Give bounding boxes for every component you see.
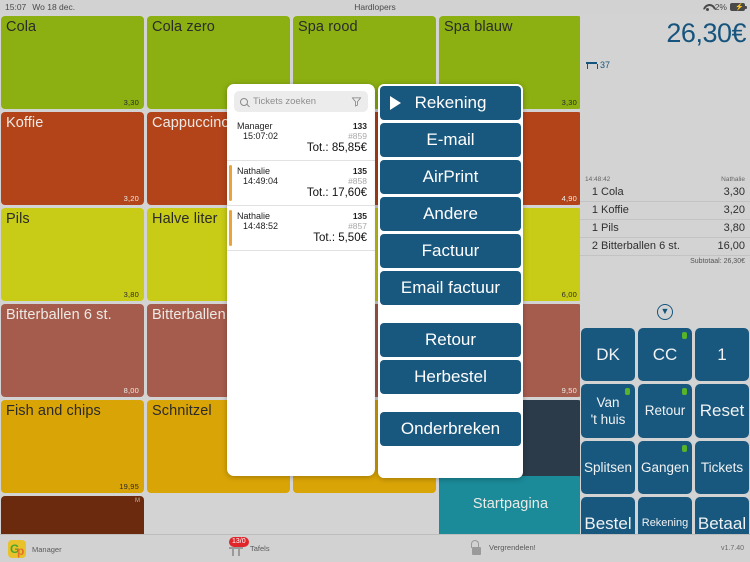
search-input[interactable]: Tickets zoeken [253, 96, 346, 107]
keypad-button[interactable]: Van 't huis [581, 384, 635, 437]
gp-logo-icon: Gp [8, 540, 26, 558]
action-menu-label: Rekening [415, 93, 487, 113]
status-bar: 15:07 Wo 18 dec. Hardlopers 2% ⚡ [0, 0, 750, 14]
order-line-name: Cola [601, 186, 724, 198]
action-menu-label: Herbestel [414, 367, 487, 387]
ticket-id: #857 [348, 221, 367, 231]
chevron-down-circle-icon[interactable]: ▼ [657, 304, 673, 320]
product-tile-price: 6,00 [562, 290, 577, 299]
order-line-qty: 1 [585, 186, 598, 198]
tile-corner-marker: M [135, 498, 140, 504]
product-tile-name: Spa blauw [444, 19, 577, 35]
tables-badge: 13/0 [229, 537, 249, 547]
product-tile-price: 3,30 [562, 98, 577, 107]
table-icon [586, 62, 597, 69]
ticket-id: #859 [348, 131, 367, 141]
ticket-user: Nathalie [237, 166, 270, 176]
version-label: v1.7.40 [721, 545, 744, 552]
keypad-button-label: Bestel [584, 515, 631, 532]
action-menu-button[interactable]: Herbestel [380, 360, 521, 394]
product-tile-price: 4,90 [562, 194, 577, 203]
product-tile-price: 19,95 [119, 482, 139, 491]
ticket-number: 135 [353, 166, 367, 176]
keypad-button[interactable]: Splitsen [581, 441, 635, 494]
wifi-icon [703, 4, 712, 11]
product-tile-price: 3,80 [124, 290, 139, 299]
order-header-time: 14:48:42 [585, 176, 610, 183]
status-bar-right: 2% ⚡ [703, 2, 745, 12]
action-menu-button[interactable]: Factuur [380, 234, 521, 268]
order-line-amount: 3,80 [724, 222, 745, 234]
table-indicator[interactable]: 37 [586, 60, 610, 70]
table-number: 37 [600, 60, 610, 70]
status-dot-icon [682, 388, 687, 395]
order-list-header: 14:48:42 Nathalie [580, 176, 750, 184]
keypad-button[interactable]: DK [581, 328, 635, 381]
order-subtotal: Subtotaal: 26,30€ [580, 256, 750, 265]
product-tile-price: 9,50 [562, 386, 577, 395]
action-menu-button[interactable]: Rekening [380, 86, 521, 120]
order-line-qty: 1 [585, 204, 598, 216]
search-icon [240, 98, 248, 106]
keypad-button[interactable]: 1 [695, 328, 749, 381]
product-tile-name: Bitterballen 6 st. [6, 307, 139, 323]
battery-percent: 2% [715, 2, 727, 12]
ticket-list-item[interactable]: Nathalie13514:48:52#857Tot.: 5,50€ [227, 206, 375, 251]
keypad-button[interactable]: Tickets [695, 441, 749, 494]
filter-funnel-icon[interactable] [351, 96, 362, 107]
keypad-button-label: Van 't huis [591, 394, 626, 428]
ticket-time: 14:49:04 [243, 176, 278, 186]
action-menu-label: Andere [423, 204, 478, 224]
ticket-list-item[interactable]: Nathalie13514:49:04#858Tot.: 17,60€ [227, 161, 375, 206]
keypad-button-label: 1 [717, 346, 726, 363]
product-tile-price: 3,20 [124, 194, 139, 203]
order-line-row[interactable]: 2Bitterballen 6 st.16,00 [580, 238, 750, 256]
ticket-list-item[interactable]: Manager13315:07:02#859Tot.: 85,85€ [227, 116, 375, 161]
product-tile[interactable]: Bitterballen 6 st.8,00 [1, 304, 144, 397]
product-tile-name: Spa rood [298, 19, 431, 35]
ticket-total: Tot.: 17,60€ [237, 187, 367, 199]
action-menu-button[interactable]: E-mail [380, 123, 521, 157]
keypad-button[interactable]: Gangen [638, 441, 692, 494]
action-menu-button[interactable]: Retour [380, 323, 521, 357]
bottom-toolbar: Gp Manager 13/0 Tafels Vergrendelen! v1.… [0, 534, 750, 562]
ticket-status-bar [229, 120, 232, 156]
order-line-qty: 2 [585, 240, 598, 252]
tables-button[interactable]: 13/0 Tafels [228, 540, 270, 556]
tables-label: Tafels [250, 544, 270, 553]
product-tile[interactable]: Koffie3,20 [1, 112, 144, 205]
product-tile-name: Koffie [6, 115, 139, 131]
keypad-button[interactable]: Reset [695, 384, 749, 437]
ticket-time: 15:07:02 [243, 131, 278, 141]
keypad-button[interactable]: CC [638, 328, 692, 381]
keypad-button-label: Splitsen [584, 459, 632, 476]
ticket-action-menu: RekeningE-mailAirPrintAndereFactuurEmail… [378, 84, 523, 478]
product-tile[interactable]: Fish and chips19,95 [1, 400, 144, 493]
order-line-row[interactable]: 1Pils3,80 [580, 220, 750, 238]
lock-icon [470, 540, 483, 555]
status-title: Hardlopers [0, 2, 750, 12]
order-header-user: Nathalie [721, 176, 745, 183]
product-tile-name: Cola [6, 19, 139, 35]
keypad-button-label: Gangen [641, 459, 689, 476]
ticket-total: Tot.: 85,85€ [237, 142, 367, 154]
tickets-panel: Tickets zoeken Manager13315:07:02#859Tot… [227, 84, 375, 476]
lock-button[interactable]: Vergrendelen! [470, 540, 536, 555]
product-tile-name: Pils [6, 211, 139, 227]
product-tile-price: 8,00 [124, 386, 139, 395]
action-menu-label: Email factuur [401, 278, 500, 298]
ticket-number: 133 [353, 121, 367, 131]
ticket-total: Tot.: 5,50€ [237, 232, 367, 244]
keypad-button-label: Betaal [698, 515, 746, 532]
ticket-status-bar [229, 165, 232, 201]
keypad-button-label: Tickets [701, 459, 743, 476]
order-line-row[interactable]: 1Koffie3,20 [580, 202, 750, 220]
order-line-amount: 3,30 [724, 186, 745, 198]
status-dot-icon [682, 445, 687, 452]
user-label: Manager [32, 545, 62, 554]
ticket-user: Nathalie [237, 211, 270, 221]
order-line-amount: 3,20 [724, 204, 745, 216]
action-keypad: DKCC1Van 't huisRetourResetSplitsenGange… [581, 328, 749, 550]
order-line-list: 14:48:42 Nathalie 1Cola3,301Koffie3,201P… [580, 176, 750, 265]
pos-app-screen: 15:07 Wo 18 dec. Hardlopers 2% ⚡ Cola3,3… [0, 0, 750, 562]
ticket-number: 135 [353, 211, 367, 221]
product-tile[interactable]: Cola3,30 [1, 16, 144, 109]
action-menu-label: Factuur [422, 241, 480, 261]
ticket-status-bar [229, 210, 232, 246]
table-icon: 13/0 [228, 540, 244, 556]
startpagina-label: Startpagina [473, 496, 548, 512]
product-tile-name: Fish and chips [6, 403, 139, 419]
status-dot-icon [625, 388, 630, 395]
product-tile-name: Cola zero [152, 19, 285, 35]
product-tile-price: 3,30 [124, 98, 139, 107]
action-menu-label: E-mail [426, 130, 474, 150]
keypad-button-label: Rekening [642, 515, 688, 532]
order-panel: 26,30€ 37 14:48:42 Nathalie 1Cola3,301Ko… [580, 16, 750, 534]
order-line-row[interactable]: 1Cola3,30 [580, 184, 750, 202]
keypad-button[interactable]: Retour [638, 384, 692, 437]
action-menu-button[interactable]: Andere [380, 197, 521, 231]
action-menu-button[interactable]: Onderbreken [380, 412, 521, 446]
keypad-button-label: Retour [645, 402, 686, 419]
ticket-search-bar[interactable]: Tickets zoeken [234, 91, 368, 112]
order-line-name: Koffie [601, 204, 724, 216]
ticket-id: #858 [348, 176, 367, 186]
user-button[interactable]: Gp Manager [8, 540, 62, 558]
battery-charging-icon: ⚡ [730, 3, 745, 11]
menu-separator [380, 397, 521, 409]
action-menu-button[interactable]: AirPrint [380, 160, 521, 194]
action-menu-label: AirPrint [423, 167, 479, 187]
order-line-amount: 16,00 [717, 240, 745, 252]
ticket-time: 14:48:52 [243, 221, 278, 231]
keypad-button-label: CC [653, 346, 678, 363]
action-menu-label: Retour [425, 330, 476, 350]
keypad-button-label: DK [596, 346, 620, 363]
keypad-button-label: Reset [700, 402, 744, 419]
action-menu-button[interactable]: Email factuur [380, 271, 521, 305]
product-tile[interactable]: Pils3,80 [1, 208, 144, 301]
order-total: 26,30€ [666, 18, 746, 49]
action-menu-label: Onderbreken [401, 419, 500, 439]
ticket-user: Manager [237, 121, 273, 131]
order-line-name: Pils [601, 222, 724, 234]
status-dot-icon [682, 332, 687, 339]
play-icon [390, 96, 401, 110]
menu-separator [380, 308, 521, 320]
order-line-qty: 1 [585, 222, 598, 234]
lock-label: Vergrendelen! [489, 543, 536, 552]
order-line-name: Bitterballen 6 st. [601, 240, 717, 252]
